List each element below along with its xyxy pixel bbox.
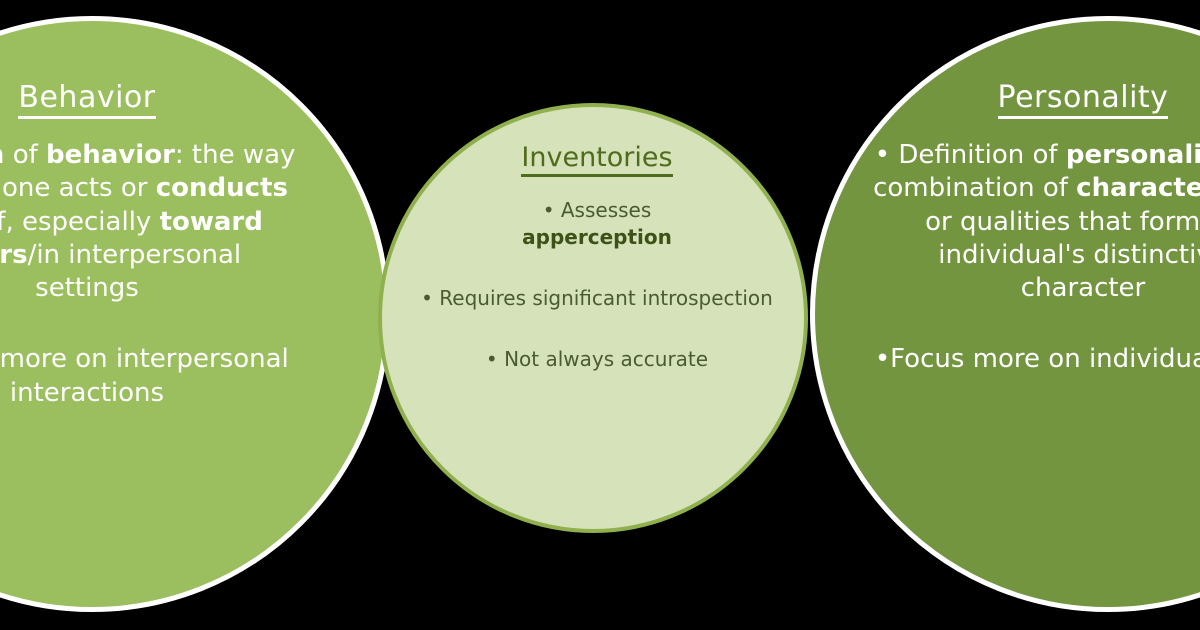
personality-bullet-1: • Definition of personality: the combina… — [873, 139, 1200, 305]
personality-b2-marker: • — [875, 344, 890, 374]
behavior-b1-t1: Definition of — [0, 140, 46, 170]
personality-b1-t1: Definition of — [898, 140, 1066, 170]
behavior-circle: Behavior Definition of behavior: the way… — [0, 16, 390, 612]
inventories-b2-text: Requires significant introspection — [439, 286, 773, 310]
inventories-b3-text: Not always accurate — [504, 347, 708, 371]
inventories-title: Inventories — [521, 143, 672, 177]
personality-b1-bold2: characteristics — [1076, 173, 1200, 203]
behavior-bullet-2: • Focus more on interpersonal interactio… — [0, 343, 297, 410]
personality-b1-marker: • — [875, 140, 890, 170]
behavior-b1-t4: /in interpersonal settings — [28, 240, 242, 303]
inventories-circle: Inventories • Assesses apperception • Re… — [378, 103, 808, 533]
behavior-bullet-1: Definition of behavior: the way in which… — [0, 139, 297, 305]
personality-b2-text: Focus more on individual traits — [890, 344, 1200, 374]
inventories-content: Inventories • Assesses apperception • Re… — [420, 143, 774, 373]
inventories-bullet-3: • Not always accurate — [420, 346, 774, 373]
inventories-bullet-1: • Assesses apperception — [420, 197, 774, 251]
personality-title: Personality — [998, 81, 1169, 119]
personality-b1-t3: or qualities that form an individual's d… — [925, 207, 1200, 304]
personality-content: Personality • Definition of personality:… — [873, 81, 1200, 377]
inventories-b3-marker: • — [486, 347, 498, 371]
behavior-b1-t3: oneself, especially — [0, 207, 160, 237]
personality-bullet-2: •Focus more on individual traits — [873, 343, 1200, 376]
inventories-b1-text: Assesses — [561, 198, 651, 222]
personality-circle: Personality • Definition of personality:… — [810, 16, 1200, 612]
personality-b1-bold1: personality — [1066, 140, 1200, 170]
inventories-b1-marker: • — [543, 198, 555, 222]
behavior-content: Behavior Definition of behavior: the way… — [0, 81, 297, 410]
inventories-b1-bold: apperception — [522, 225, 672, 249]
behavior-b1-bold2: conducts — [156, 173, 288, 203]
inventories-bullet-2: • Requires significant introspection — [420, 285, 774, 312]
behavior-b2-text: Focus more on interpersonal interactions — [0, 344, 289, 407]
behavior-title: Behavior — [18, 81, 155, 119]
diagram-canvas: Behavior Definition of behavior: the way… — [0, 0, 1200, 630]
inventories-b2-marker: • — [421, 286, 433, 310]
behavior-b1-bold1: behavior — [46, 140, 175, 170]
